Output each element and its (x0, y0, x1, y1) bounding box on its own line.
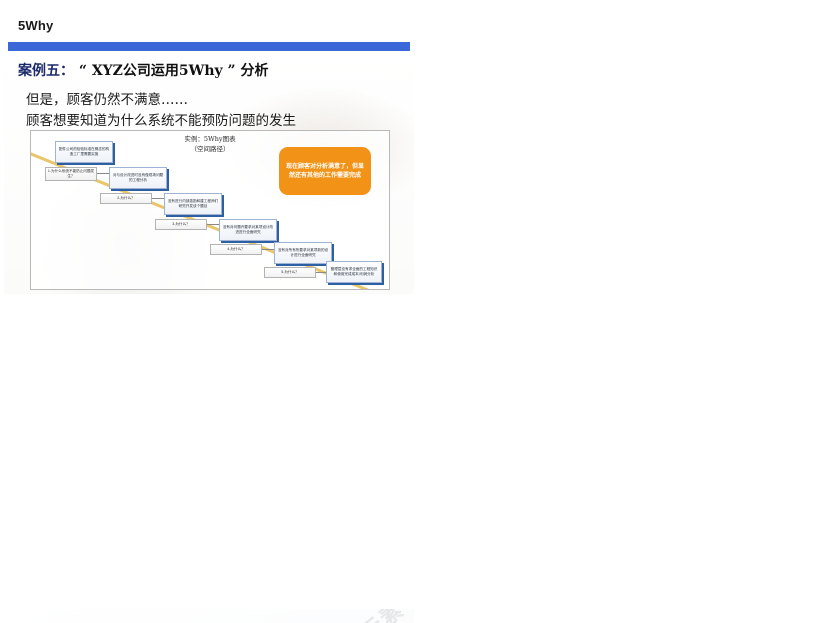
diagram-callout-box: 现在顾客对分析满意了，但显然还有其他的工作需要完成 (279, 147, 371, 195)
slide-cell-2: 5Why 5Why的精髓 (418, 0, 840, 300)
diagram-cause-box: 对与设计改进时没有做现场问题的工程分析 (109, 167, 167, 189)
diagram-cause-box: 管理层没有求全面的工程知识和使用完成成本/利润分析 (326, 261, 382, 283)
diagram-why-box: 3-为什么？ (155, 219, 207, 230)
diagram-cause-box: 配件公司的检验标准在概念的构造工厂里需要实施 (55, 141, 113, 163)
diagram-why-box: 5-为什么？ (264, 267, 316, 278)
slide-3[interactable]: 量元素 5Why 5Why的精髓： 简单来说，就是 多问几次为什么？ 通过反复的… (4, 609, 414, 623)
five-why-diagram: 实例：5Why图表 （空间路径） 配件公司的检验标准在概念的构造工厂里需要实施 … (30, 130, 390, 290)
slide-1[interactable]: 5Why 案例五： “ XYZ公司运用5Why ” 分析 但是，顾客仍然不满意…… (4, 6, 414, 294)
diagram-connector (316, 272, 326, 273)
slide-1-case-heading: 案例五： “ XYZ公司运用5Why ” 分析 (18, 60, 268, 80)
diagram-title: 实例：5Why图表 （空间路径） (184, 135, 235, 155)
case-quote-text: XYZ公司运用5Why (92, 63, 223, 79)
slide-deck-grid: 5Why 案例五： “ XYZ公司运用5Why ” 分析 但是，顾客仍然不满意…… (0, 0, 840, 623)
diagram-title-line-1: 实例：5Why图表 (184, 135, 235, 145)
diagram-title-line-2: （空间路径） (184, 145, 235, 155)
slide-cell-1: 5Why 案例五： “ XYZ公司运用5Why ” 分析 但是，顾客仍然不满意…… (0, 0, 418, 300)
diagram-why-box: 1-为什么系统不能防止问题发生？ (45, 167, 97, 181)
diagram-connector (262, 249, 274, 250)
diagram-connector (97, 173, 109, 174)
slide-1-body-line-1: 但是，顾客仍然不满意…… (26, 88, 188, 108)
case-suffix: 分析 (240, 63, 268, 79)
diagram-cause-box: 没有对问题许要求对某项设计改进进行全面研究 (219, 219, 277, 241)
diagram-connector (152, 198, 164, 199)
slide-1-title-rule (8, 42, 410, 51)
diagram-cause-box: 没有对所有所要求对某项新的设计进行全面研究 (274, 242, 332, 264)
slide-3-background (4, 609, 414, 623)
diagram-why-box: 4-为什么？ (210, 244, 262, 255)
slide-cell-3: 量元素 5Why 5Why的精髓： 简单来说，就是 多问几次为什么？ 通过反复的… (0, 300, 418, 623)
case-prefix: 案例五： (18, 63, 74, 79)
diagram-connector (207, 224, 219, 225)
case-quote-open: “ (79, 63, 87, 79)
case-quote-close: ” (228, 63, 236, 79)
diagram-why-box: 2-为什么？ (100, 193, 152, 204)
slide-cell-4: 谢谢大家！ 精益管理，点滴做起！ (418, 300, 840, 623)
slide-1-title: 5Why (18, 18, 53, 33)
slide-1-body-line-2: 顾客想要知道为什么系统不能预防问题的发生 (26, 109, 296, 129)
diagram-cause-box: 没有进行内部激励和建工程师们研究开发该个题目 (164, 193, 222, 215)
